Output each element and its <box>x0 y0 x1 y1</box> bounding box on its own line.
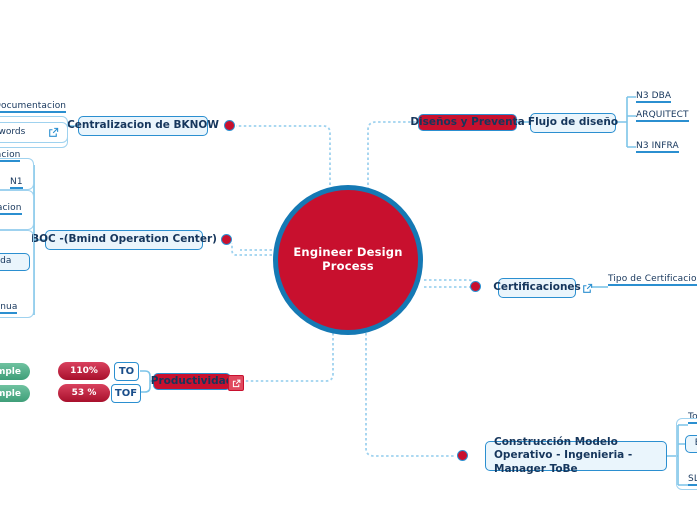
boc-child-n1[interactable]: N1 <box>10 177 23 189</box>
metric-pill-to[interactable]: 110% <box>58 362 110 380</box>
node-label: Diseños y Preventa <box>410 116 524 129</box>
node-label: Certificaciones <box>493 281 581 294</box>
mindmap-canvas: Engineer Design Process Centralizacion d… <box>0 0 697 520</box>
central-node-label: Engineer Design Process <box>278 246 418 274</box>
shell-modelo-children <box>676 418 697 490</box>
boc-child-zacion[interactable]: zacion <box>0 203 22 215</box>
metric-pill-tof[interactable]: 53 % <box>58 384 110 402</box>
node-construccion-modelo-operativo[interactable]: Construcción Modelo Operativo - Ingenier… <box>485 441 667 471</box>
child-arquitect[interactable]: ARQUITECT <box>636 110 689 122</box>
label-tof[interactable]: TOF <box>111 384 141 403</box>
node-disenos-y-preventa[interactable]: Diseños y Preventa <box>418 114 517 131</box>
branch-dot-certificaciones[interactable] <box>470 281 481 292</box>
node-certificaciones[interactable]: Certificaciones <box>498 278 576 298</box>
node-label: Flujo de diseño <box>528 116 618 129</box>
child-n3-infra[interactable]: N3 INFRA <box>636 141 679 153</box>
external-link-icon[interactable] <box>48 127 59 138</box>
node-label: Centralizacion de BKNOW <box>67 119 219 132</box>
external-link-icon-productividad[interactable] <box>228 375 244 391</box>
node-flujo-de-diseno[interactable]: Flujo de diseño <box>530 113 616 133</box>
result-pill-to[interactable]: umple <box>0 363 30 380</box>
node-label: Productividad <box>151 375 233 388</box>
external-link-icon-certificaciones[interactable] <box>582 283 593 294</box>
child-n3-dba[interactable]: N3 DBA <box>636 91 671 103</box>
boc-child-tinua[interactable]: tinua <box>0 302 17 314</box>
result-pill-tof[interactable]: mple <box>0 385 30 402</box>
child-documentacion[interactable]: Documentacion <box>0 101 66 113</box>
node-label: BOC -(Bmind Operation Center) <box>31 233 217 246</box>
branch-dot-boc[interactable] <box>221 234 232 245</box>
node-label: Construcción Modelo Operativo - Ingenier… <box>494 436 658 475</box>
central-node[interactable]: Engineer Design Process <box>273 185 423 335</box>
boc-child-ayuda[interactable]: Ayuda <box>0 253 30 271</box>
boc-child-racion[interactable]: racion <box>0 150 20 162</box>
node-productividad[interactable]: Productividad <box>153 373 231 390</box>
node-centralizacion-de-bknow[interactable]: Centralizacion de BKNOW <box>78 116 208 136</box>
node-boc[interactable]: BOC -(Bmind Operation Center) <box>45 230 203 250</box>
child-tipo-de-certificacion[interactable]: Tipo de Certificacion <box>608 274 697 286</box>
branch-dot-modelo-operativo[interactable] <box>457 450 468 461</box>
branch-dot-centralizacion[interactable] <box>224 120 235 131</box>
label-to[interactable]: TO <box>114 362 139 381</box>
